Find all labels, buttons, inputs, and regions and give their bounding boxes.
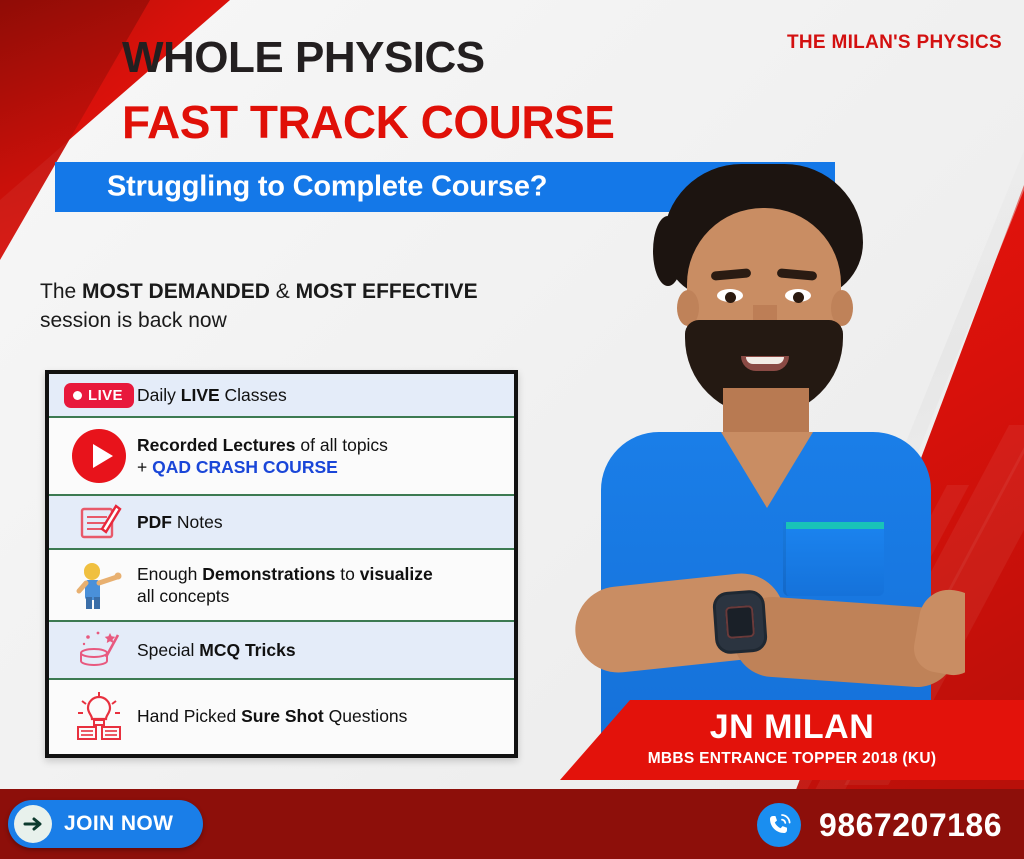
feature-text-live: Daily LIVE Classes bbox=[137, 384, 287, 406]
features-box: LIVE Daily LIVE Classes Recorded Lecture… bbox=[45, 370, 518, 758]
feature-text-sureshot: Hand Picked Sure Shot Questions bbox=[137, 705, 407, 727]
contact-phone[interactable]: 9867207186 bbox=[757, 803, 1002, 847]
feature-0-bold: LIVE bbox=[181, 385, 220, 405]
subheadline: The MOST DEMANDED & MOST EFFECTIVE sessi… bbox=[40, 278, 510, 336]
person-demonstrating-icon bbox=[61, 559, 137, 611]
live-dot-icon bbox=[73, 391, 82, 400]
feature-4-bold: MCQ Tricks bbox=[199, 640, 295, 660]
feature-text-demonstrations: Enough Demonstrations to visualize all c… bbox=[137, 563, 433, 608]
arrow-right-icon bbox=[14, 805, 52, 843]
feature-text-recorded: Recorded Lectures of all topics + QAD CR… bbox=[137, 434, 388, 479]
feature-row-recorded: Recorded Lectures of all topics + QAD CR… bbox=[49, 418, 514, 496]
feature-text-mcq: Special MCQ Tricks bbox=[137, 639, 296, 661]
feature-1-highlight: QAD CRASH COURSE bbox=[152, 457, 338, 477]
feature-0-plain2: Classes bbox=[220, 385, 287, 405]
feature-text-pdf: PDF Notes bbox=[137, 511, 223, 533]
feature-row-sureshot: Hand Picked Sure Shot Questions bbox=[49, 680, 514, 752]
feature-5-plain2: Questions bbox=[324, 706, 408, 726]
feature-1-plus: + bbox=[137, 457, 152, 477]
feature-1-bold: Recorded Lectures bbox=[137, 435, 296, 455]
notes-pencil-icon bbox=[61, 499, 137, 545]
phone-call-icon bbox=[757, 803, 801, 847]
poster-root: THE MILAN'S PHYSICS WHOLE PHYSICS FAST T… bbox=[0, 0, 1024, 859]
feature-2-bold: PDF bbox=[137, 512, 172, 532]
page-title-line2: FAST TRACK COURSE bbox=[122, 95, 614, 149]
subheadline-prefix: The bbox=[40, 280, 82, 303]
subheadline-bold-1: MOST DEMANDED bbox=[82, 280, 270, 303]
feature-row-demonstrations: Enough Demonstrations to visualize all c… bbox=[49, 550, 514, 622]
feature-3-bold: Demonstrations bbox=[202, 564, 335, 584]
instructor-photo bbox=[545, 150, 965, 770]
feature-2-plain2: Notes bbox=[172, 512, 223, 532]
smartwatch-icon bbox=[715, 592, 765, 651]
subheadline-bold-2: MOST EFFECTIVE bbox=[296, 280, 478, 303]
feature-row-mcq: Special MCQ Tricks bbox=[49, 622, 514, 680]
instructor-name: JN MILAN bbox=[560, 708, 1024, 747]
feature-5-bold: Sure Shot bbox=[241, 706, 324, 726]
brand-name: THE MILAN'S PHYSICS bbox=[787, 32, 1002, 54]
feature-row-pdf: PDF Notes bbox=[49, 496, 514, 550]
footer-bar: JOIN NOW 9867207186 bbox=[0, 789, 1024, 859]
phone-number: 9867207186 bbox=[819, 807, 1002, 844]
join-now-button[interactable]: JOIN NOW bbox=[8, 800, 203, 848]
feature-5-plain1: Hand Picked bbox=[137, 706, 241, 726]
feature-3-plain2: to bbox=[335, 564, 359, 584]
lightbulb-book-icon bbox=[61, 691, 137, 741]
feature-0-plain1: Daily bbox=[137, 385, 181, 405]
feature-4-plain1: Special bbox=[137, 640, 199, 660]
live-badge-label: LIVE bbox=[88, 387, 123, 404]
instructor-credential: MBBS ENTRANCE TOPPER 2018 (KU) bbox=[560, 750, 1024, 768]
page-title-line1: WHOLE PHYSICS bbox=[122, 33, 485, 83]
subheadline-mid: & bbox=[270, 280, 296, 303]
feature-3-bold2: visualize bbox=[360, 564, 433, 584]
subheadline-line2: session is back now bbox=[40, 309, 227, 332]
join-now-label: JOIN NOW bbox=[64, 812, 173, 836]
instructor-name-banner: JN MILAN MBBS ENTRANCE TOPPER 2018 (KU) bbox=[560, 700, 1024, 780]
magic-wand-hat-icon bbox=[61, 627, 137, 673]
headline-banner-text: Struggling to Complete Course? bbox=[107, 171, 547, 204]
live-badge-icon: LIVE bbox=[61, 383, 137, 408]
feature-1-plain2: of all topics bbox=[296, 435, 388, 455]
feature-3-plain3: all concepts bbox=[137, 586, 229, 606]
feature-row-live: LIVE Daily LIVE Classes bbox=[49, 374, 514, 418]
feature-3-plain1: Enough bbox=[137, 564, 202, 584]
play-button-icon bbox=[61, 428, 137, 484]
